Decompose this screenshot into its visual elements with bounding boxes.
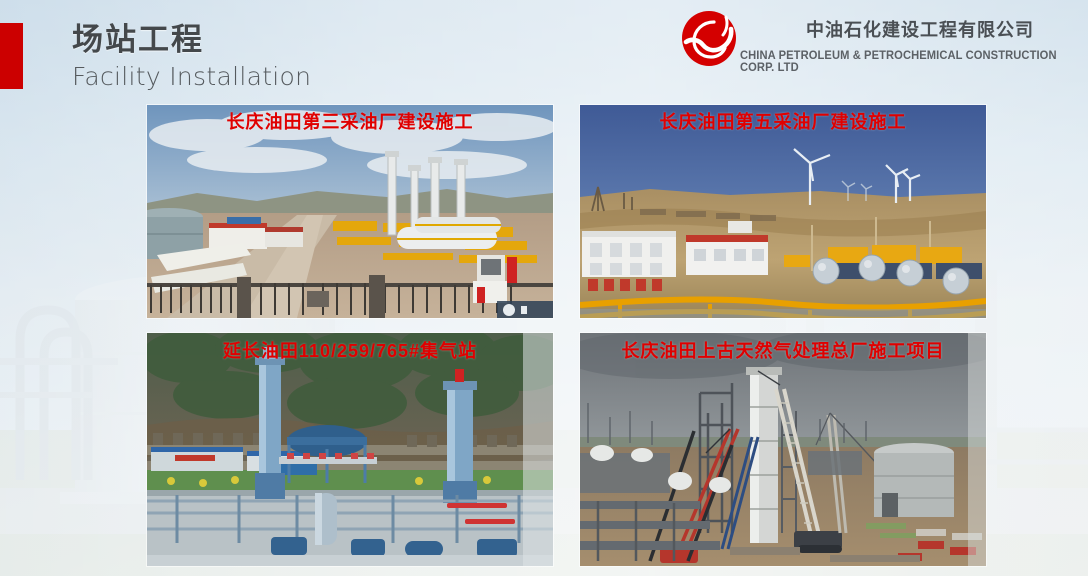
photo-card-3[interactable]: 延长油田110/259/765#集气站 (147, 333, 553, 566)
company-name-chinese: 中油石化建设工程有限公司 (806, 16, 1034, 42)
slide-facility-installation: 场站工程 Facility Installation 中油石化建设工程有限公司 … (0, 0, 1088, 576)
company-name-english: CHINA PETROLEUM & PETROCHEMICAL CONSTRUC… (740, 50, 1078, 74)
accent-red-bar (0, 23, 23, 89)
page-title-english: Facility Installation (72, 62, 311, 91)
photo-card-2[interactable]: 长庆油田第五采油厂建设施工 (580, 105, 986, 318)
photo-card-1[interactable]: 长庆油田第三采油厂建设施工 (147, 105, 553, 318)
photo-card-4[interactable]: 长庆油田上古天然气处理总厂施工项目 (580, 333, 986, 566)
cnpc-circle-logo-icon (678, 9, 740, 69)
page-title-chinese: 场站工程 (72, 24, 204, 57)
